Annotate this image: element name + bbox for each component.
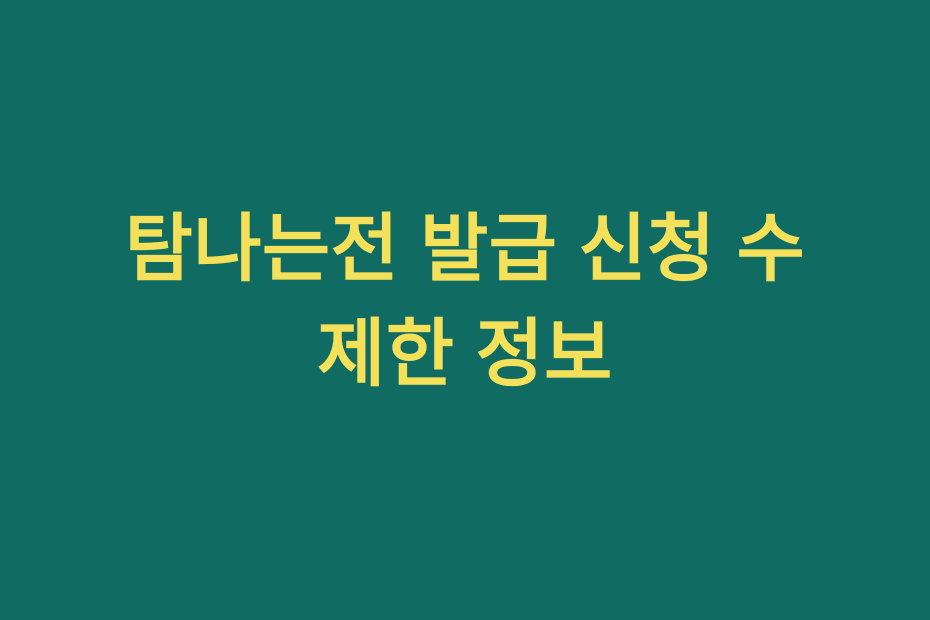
banner-canvas: 탐나는전 발급 신청 수 제한 정보 <box>0 0 930 620</box>
headline-block: 탐나는전 발급 신청 수 제한 정보 <box>85 196 845 406</box>
page-title: 탐나는전 발급 신청 수 제한 정보 <box>85 196 845 406</box>
